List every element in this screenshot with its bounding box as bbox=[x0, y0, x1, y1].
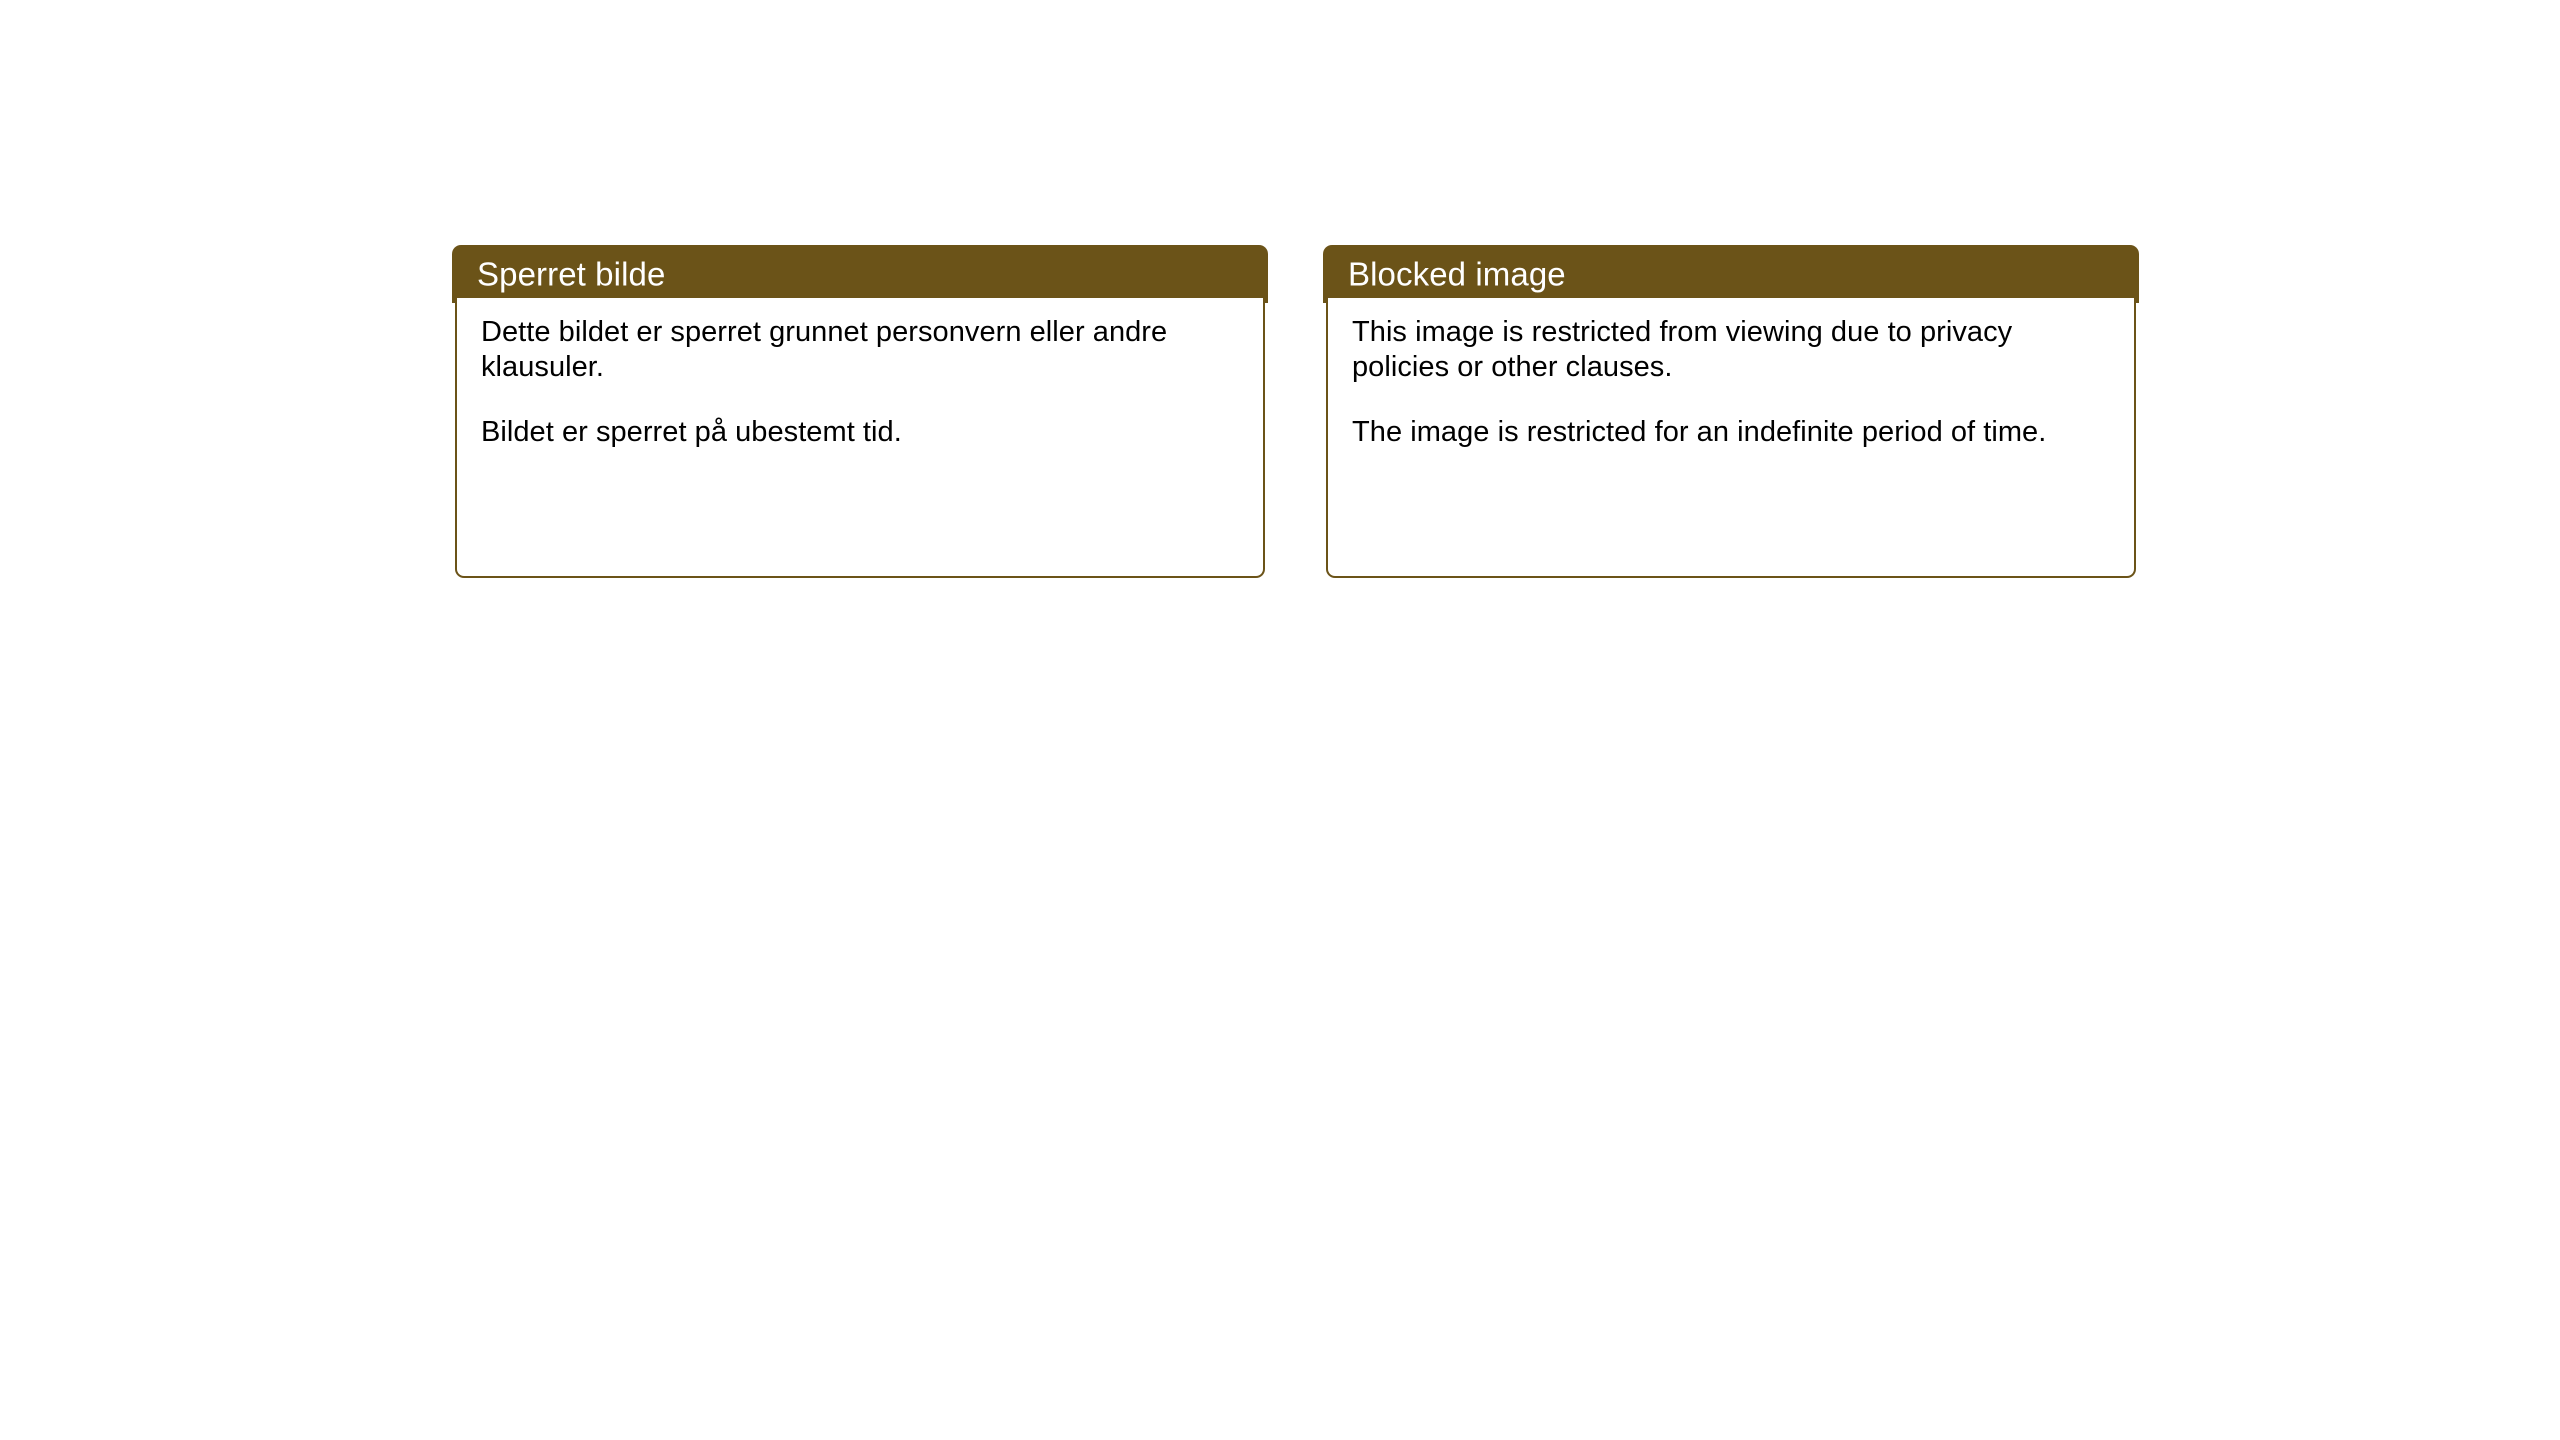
notice-paragraph-secondary-en: The image is restricted for an indefinit… bbox=[1352, 415, 2112, 450]
notice-paragraph-primary-no: Dette bildet er sperret grunnet personve… bbox=[481, 315, 1241, 386]
notice-paragraph-primary-en: This image is restricted from viewing du… bbox=[1352, 315, 2112, 386]
notice-header-bar-no: Sperret bilde bbox=[452, 245, 1268, 303]
notice-title-en: Blocked image bbox=[1348, 258, 1566, 291]
notice-body-no: Dette bildet er sperret grunnet personve… bbox=[455, 298, 1265, 578]
blocked-image-notice-card-en: Blocked image This image is restricted f… bbox=[1323, 245, 2139, 578]
page-canvas: Sperret bilde Dette bildet er sperret gr… bbox=[0, 0, 2560, 1440]
notice-header-bar-en: Blocked image bbox=[1323, 245, 2139, 303]
notice-title-no: Sperret bilde bbox=[477, 258, 665, 291]
notice-body-en: This image is restricted from viewing du… bbox=[1326, 298, 2136, 578]
notice-paragraph-secondary-no: Bildet er sperret på ubestemt tid. bbox=[481, 415, 1241, 450]
blocked-image-notice-card-no: Sperret bilde Dette bildet er sperret gr… bbox=[452, 245, 1268, 578]
